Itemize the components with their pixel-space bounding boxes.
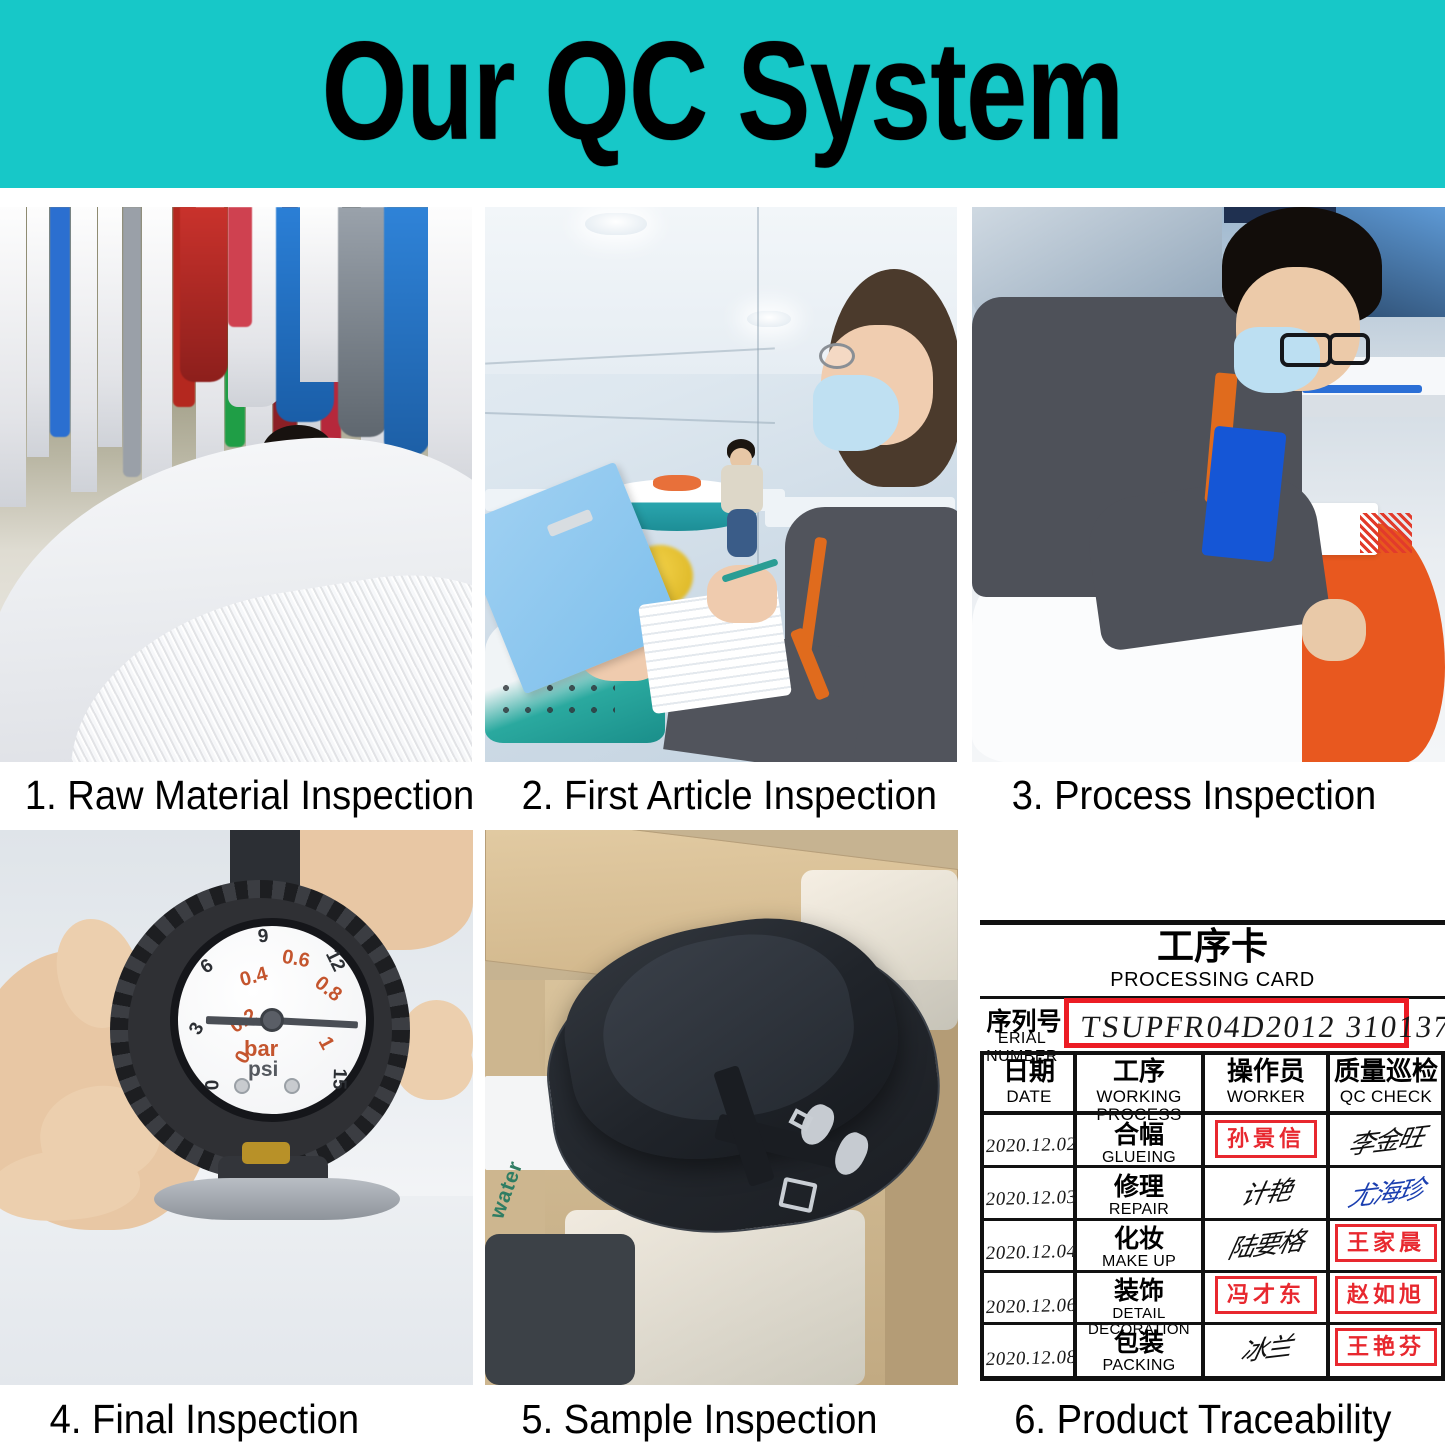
panel-5-photo: water [485,830,958,1385]
panel-4-caption: 4. Final Inspection [50,1396,359,1443]
qc-signature: 尤海珍 [1345,1168,1427,1214]
page-title: Our QC System [322,21,1124,168]
dial-screw-left [234,1078,250,1094]
card-bottom-border [980,1376,1445,1381]
card-rule [980,1111,1445,1115]
pressure-gauge-dial: 0 0.2 0.4 0.6 0.8 1 0 3 6 9 12 15 bar ps… [178,926,366,1114]
panel-3-photo [972,207,1445,762]
qc-stamp: 赵如旭 [1335,1276,1437,1313]
panel-1-photo [0,207,472,762]
card-rule [980,1165,1445,1168]
gauge-psi-label: 9 [257,926,270,949]
panel-3-caption: 3. Process Inspection [1012,772,1377,819]
gauge-bar-label: 0.8 [310,972,346,1007]
panel-2-caption: 2. First Article Inspection [522,772,937,819]
table-row: MAKE UP [1077,1254,1201,1271]
card-top-border [980,920,1445,925]
gauge-bar-label: 0.6 [280,946,311,973]
table-row: 2020.12.06 [985,1295,1078,1319]
table-row: PACKING [1077,1358,1201,1375]
gauge-psi-label: 6 [197,955,218,979]
worker-signature: 陆要格 [1225,1220,1307,1266]
gauge-psi-label: 15 [327,1068,350,1090]
col-header-worker-cn: 操作员 [1205,1058,1327,1085]
gauge-bar-label: 0.4 [237,963,270,992]
qc-stamp: 王艳芬 [1335,1328,1437,1365]
serial-number-box: TSUPFR04D2012 31013755 [1064,998,1409,1048]
gauge-unit-psi: psi [248,1058,278,1082]
worker-stamp: 孙景信 [1215,1120,1317,1157]
card-rule [980,1051,1445,1055]
gauge-psi-label: 0 [202,1080,224,1091]
panel-6-processing-card: 工序卡 PROCESSING CARD 序列号 ERIAL NUMBER TSU… [972,830,1445,1385]
card-title-cn: 工序卡 [980,928,1445,965]
table-row: REPAIR [1077,1202,1201,1219]
table-row: 2020.12.04 [985,1241,1078,1265]
table-row: 2020.12.02 [985,1134,1078,1158]
table-row: 装饰 [1077,1278,1201,1304]
panel-6-caption: 6. Product Traceability [1014,1396,1391,1443]
panel-5-caption: 5. Sample Inspection [521,1396,877,1443]
panel-1-caption: 1. Raw Material Inspection [25,772,474,819]
table-row: 2020.12.03 [985,1187,1078,1211]
card-rule [980,1322,1445,1325]
table-row: 合幅 [1077,1122,1201,1148]
table-row: 修理 [1077,1174,1201,1200]
table-row: 2020.12.08 [985,1347,1078,1371]
dial-screw-right [284,1078,300,1094]
qc-signature: 李金旺 [1345,1116,1427,1162]
worker-stamp: 冯才东 [1215,1276,1317,1313]
col-header-worker-en: WORKER [1205,1088,1327,1106]
qc-stamp: 王家晨 [1335,1224,1437,1261]
serial-number-value: TSUPFR04D2012 31013755 [1079,1009,1445,1045]
worker-signature: 冰兰 [1238,1326,1295,1369]
table-row: 化妆 [1077,1226,1201,1252]
col-header-qc-cn: 质量巡检 [1330,1058,1442,1085]
card-rule [980,1270,1445,1273]
col-header-qc-en: QC CHECK [1330,1088,1442,1106]
col-header-process-cn: 工序 [1077,1058,1201,1085]
gauge-hub [260,1008,284,1032]
col-header-process-en: WORKING PROCESS [1075,1088,1203,1124]
qc-system-poster: Our QC System [0,0,1445,1445]
worker-signature: 计艳 [1238,1170,1295,1213]
card-title-en: PROCESSING CARD [980,970,1445,990]
col-header-date-en: DATE [984,1088,1074,1106]
card-rule [980,1218,1445,1221]
panel-4-photo: 0 0.2 0.4 0.6 0.8 1 0 3 6 9 12 15 bar ps… [0,830,473,1385]
panel-2-photo [485,207,957,762]
gauge-bar-label: 1 [313,1033,339,1054]
col-header-date-cn: 日期 [984,1058,1074,1085]
gauge-needle [272,1017,358,1028]
page-header-banner: Our QC System [0,0,1445,188]
table-row: 包装 [1077,1330,1201,1356]
